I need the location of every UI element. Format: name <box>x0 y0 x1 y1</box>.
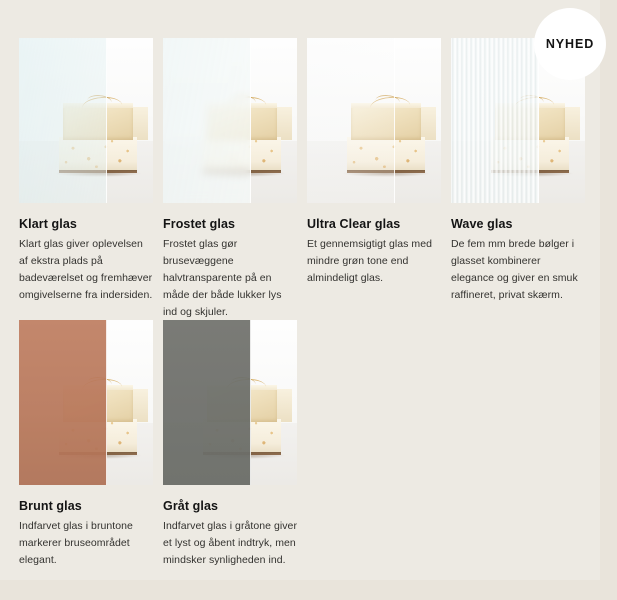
soap-photo-scene <box>163 38 297 203</box>
soap-bar-bottom <box>203 137 281 172</box>
floor-shadow <box>198 452 286 459</box>
soap-photo-scene <box>19 320 153 485</box>
soap-bar-bottom <box>59 137 137 172</box>
soap-photo-scene <box>163 320 297 485</box>
soap-bar-top <box>207 389 277 422</box>
glass-card-image-frostet-glas <box>163 38 297 203</box>
soap-bar-top <box>207 107 277 140</box>
glass-card-description-ultra-clear-glas: Et gennemsigtigt glas med mindre grøn to… <box>307 236 441 287</box>
glass-card-description-klart-glas: Klart glas giver oplevelsen af ekstra pl… <box>19 236 153 304</box>
glass-card-image-klart-glas <box>19 38 153 203</box>
nyhed-badge-label: NYHED <box>546 37 594 51</box>
glass-card-title-wave-glas: Wave glas <box>451 217 585 232</box>
floor-shadow <box>54 452 142 459</box>
soap-bar-bottom <box>203 419 281 454</box>
glass-card-description-graat-glas: Indfarvet glas i gråtone giver et lyst o… <box>163 518 297 569</box>
glass-card-description-frostet-glas: Frostet glas gør brusevæggene halvtransp… <box>163 236 297 321</box>
glass-card-image-brunt-glas <box>19 320 153 485</box>
soap-photo-scene <box>307 38 441 203</box>
glass-card-wave-glas[interactable]: Wave glas De fem mm brede bølger i glass… <box>451 38 585 321</box>
soap-bar-top <box>351 107 421 140</box>
soap-bar-bottom <box>59 419 137 454</box>
glass-card-title-graat-glas: Gråt glas <box>163 499 297 514</box>
floor-shadow <box>198 170 286 177</box>
glass-card-title-klart-glas: Klart glas <box>19 217 153 232</box>
glass-card-description-wave-glas: De fem mm brede bølger i glasset kombine… <box>451 236 585 304</box>
soap-photo-scene <box>19 38 153 203</box>
glass-card-frostet-glas[interactable]: Frostet glas Frostet glas gør brusevægge… <box>163 38 297 321</box>
floor-shadow <box>342 170 430 177</box>
soap-bar-top <box>495 107 565 140</box>
glass-card-title-ultra-clear-glas: Ultra Clear glas <box>307 217 441 232</box>
soap-bar-bottom <box>347 137 425 172</box>
floor-shadow <box>486 170 574 177</box>
glass-card-ultra-clear-glas[interactable]: Ultra Clear glas Et gennemsigtigt glas m… <box>307 38 441 321</box>
glass-card-title-frostet-glas: Frostet glas <box>163 217 297 232</box>
glass-card-image-graat-glas <box>163 320 297 485</box>
floor-shadow <box>54 170 142 177</box>
nyhed-badge[interactable]: NYHED <box>534 8 606 80</box>
glass-types-page: NYHED Klart glas Klart glas giver opleve… <box>0 0 617 600</box>
soap-bar-top <box>63 389 133 422</box>
soap-bar-top <box>63 107 133 140</box>
glass-card-row-1: Klart glas Klart glas giver oplevelsen a… <box>19 38 585 321</box>
glass-card-image-ultra-clear-glas <box>307 38 441 203</box>
glass-card-title-brunt-glas: Brunt glas <box>19 499 153 514</box>
glass-card-klart-glas[interactable]: Klart glas Klart glas giver oplevelsen a… <box>19 38 153 321</box>
soap-bar-bottom <box>491 137 569 172</box>
glass-card-graat-glas[interactable]: Gråt glas Indfarvet glas i gråtone giver… <box>163 320 297 569</box>
glass-card-description-brunt-glas: Indfarvet glas i bruntone markerer bruse… <box>19 518 153 569</box>
glass-card-row-2: Brunt glas Indfarvet glas i bruntone mar… <box>19 320 297 569</box>
glass-card-brunt-glas[interactable]: Brunt glas Indfarvet glas i bruntone mar… <box>19 320 153 569</box>
